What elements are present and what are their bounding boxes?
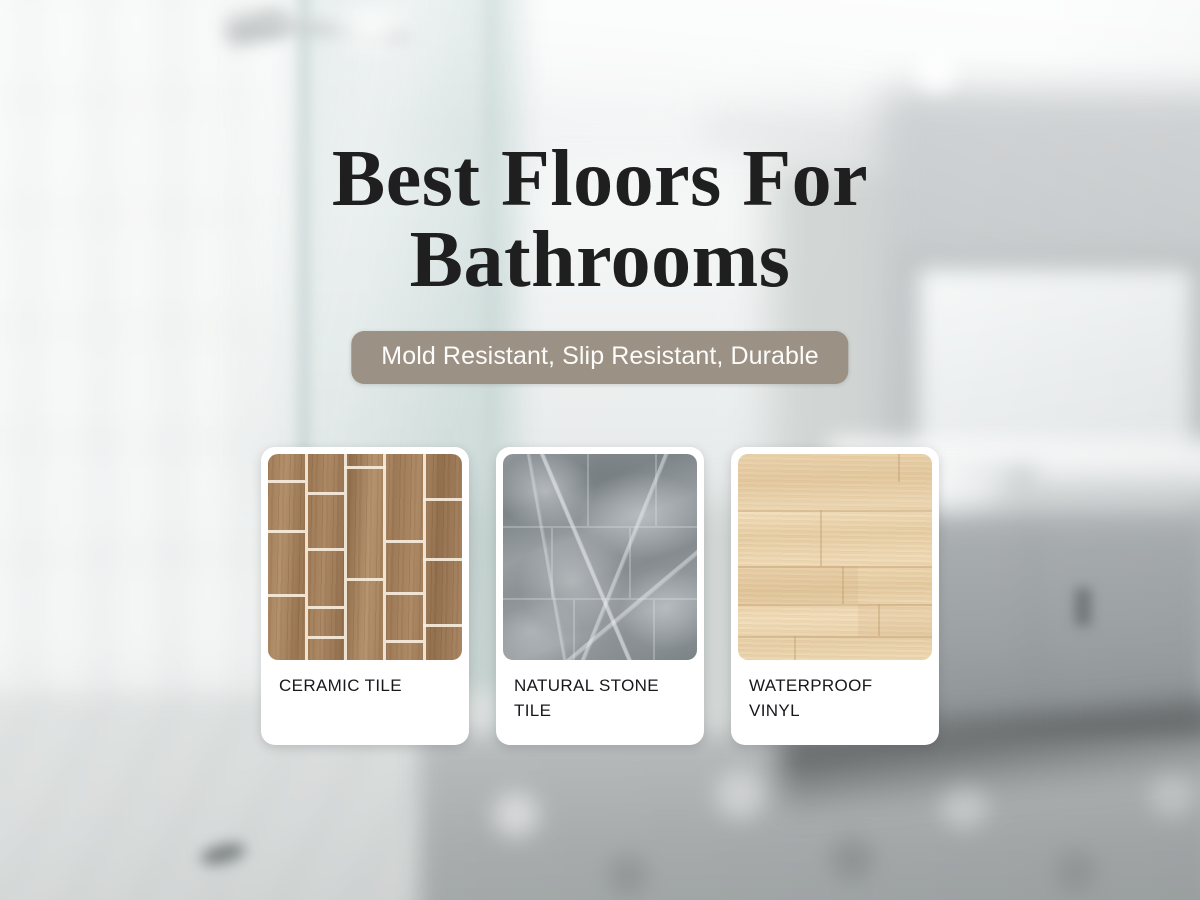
flooring-card-ceramic-tile[interactable]: CERAMIC TILE [261, 447, 469, 745]
flooring-card-label: CERAMIC TILE [268, 660, 462, 698]
flooring-card-natural-stone-tile[interactable]: NATURAL STONE TILE [496, 447, 704, 745]
flooring-card-list: CERAMIC TILE NATURAL STONE TILE [261, 447, 939, 745]
subtitle-banner: Mold Resistant, Slip Resistant, Durable [351, 331, 848, 384]
subtitle-text: Mold Resistant, Slip Resistant, Durable [381, 342, 818, 370]
content-overlay: Best Floors For Bathrooms Mold Resistant… [0, 0, 1200, 900]
flooring-card-waterproof-vinyl[interactable]: WATERPROOF VINYL [731, 447, 939, 745]
page-title: Best Floors For Bathrooms [0, 139, 1200, 301]
wood-look-ceramic-tile-swatch [268, 454, 462, 660]
flooring-card-label: NATURAL STONE TILE [503, 660, 697, 723]
flooring-card-label: WATERPROOF VINYL [738, 660, 932, 723]
blonde-vinyl-plank-swatch [738, 454, 932, 660]
grey-marble-stone-swatch [503, 454, 697, 660]
